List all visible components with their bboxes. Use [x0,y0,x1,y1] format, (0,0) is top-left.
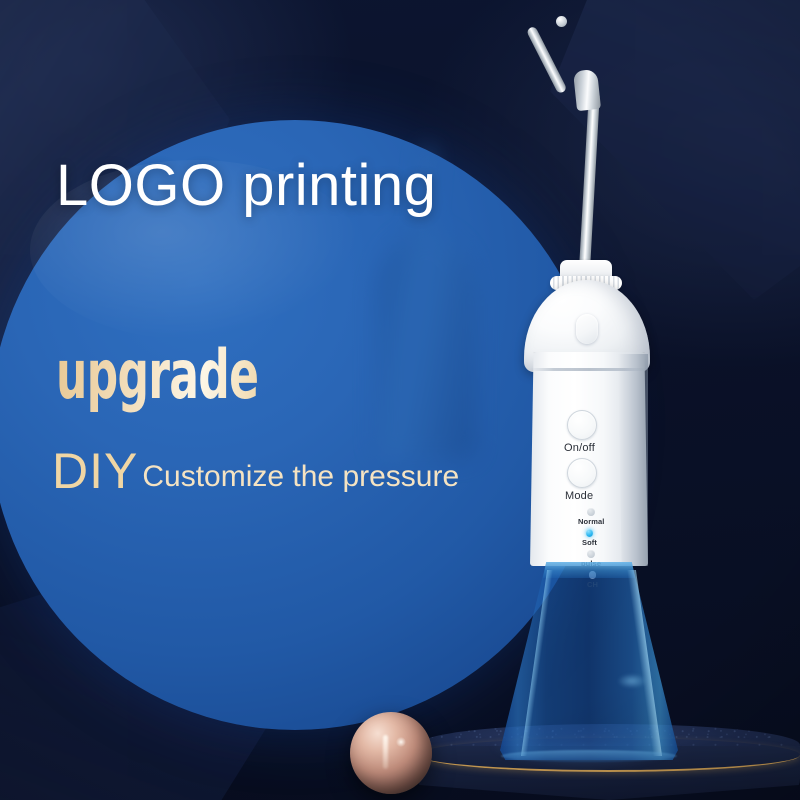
mode-button[interactable] [567,458,597,488]
sphere-specular-highlight [383,735,388,769]
product-banner: LOGO printing upgrade DIY Customize the … [0,0,800,800]
mode-indicator-normal: Normal [578,508,604,526]
nozzle-tip [556,16,567,27]
control-panel: On/off Mode Normal Soft pulse CH [564,410,642,566]
led-pulse-icon [587,550,595,558]
mode-label-soft: Soft [582,538,597,547]
nozzle-upper-shaft [526,26,568,95]
nozzle-shaft [579,92,600,268]
sphere-specular-dot [396,737,406,747]
tagline-row: DIY Customize the pressure [52,446,459,496]
mode-button-label: Mode [565,490,593,502]
silhouette-body [376,232,476,460]
led-soft-icon [586,529,594,537]
mode-indicator-soft: Soft [582,529,597,547]
mode-label-normal: Normal [578,517,604,526]
water-tank-inner-detail [618,674,646,688]
power-button[interactable] [567,410,597,440]
water-tank-base [501,750,677,762]
tagline-text: Customize the pressure [142,462,459,492]
diy-label: DIY [52,446,138,496]
water-tank-lip [500,562,678,578]
nozzle-bend [573,69,601,111]
nozzle-icon [554,14,614,266]
feature-word-upgrade: upgrade [56,336,258,415]
nozzle-release-icon[interactable] [576,314,598,344]
rose-gold-sphere [350,712,432,794]
power-button-label: On/off [564,442,595,454]
led-normal-icon [587,508,595,516]
headline-logo-printing: LOGO printing [56,152,436,219]
product-water-flosser: On/off Mode Normal Soft pulse CH [468,14,700,770]
